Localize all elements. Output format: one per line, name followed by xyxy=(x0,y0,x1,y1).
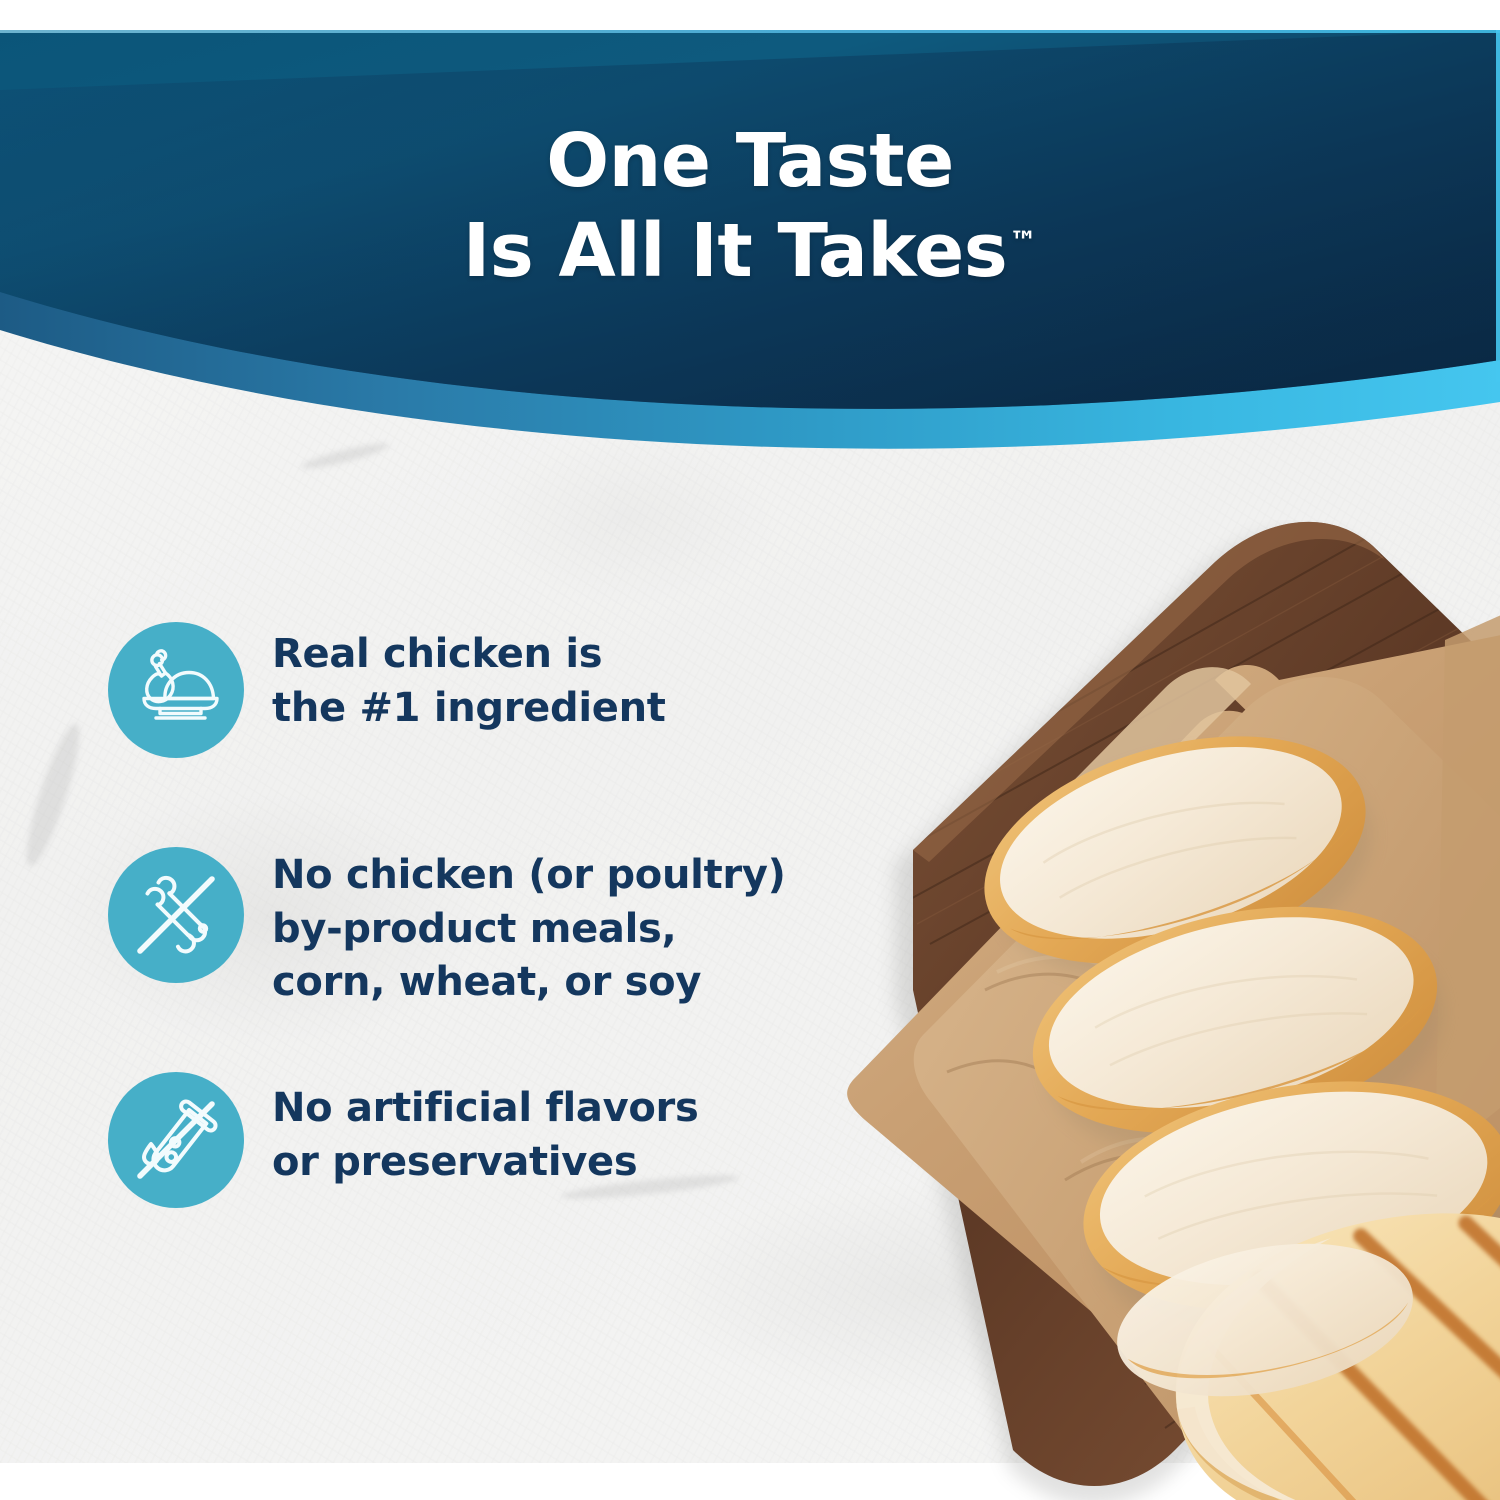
benefit-item-real-chicken: Real chicken is the #1 ingredient xyxy=(108,622,666,758)
benefit-item-no-artificial: No artificial flavors or preservatives xyxy=(108,1072,699,1208)
product-benefits-poster: One Taste Is All It Takes™ xyxy=(0,0,1500,1500)
title-line-2-wrap: Is All It Takes™ xyxy=(463,206,1038,296)
roast-chicken-platter-icon xyxy=(108,622,244,758)
header-banner: One Taste Is All It Takes™ xyxy=(0,30,1500,470)
title-line-2: Is All It Takes xyxy=(463,208,1008,294)
benefit-label: Real chicken is the #1 ingredient xyxy=(272,622,666,735)
title-line-1: One Taste xyxy=(0,116,1500,206)
page-title: One Taste Is All It Takes™ xyxy=(0,116,1500,297)
product-photo xyxy=(745,520,1500,1500)
benefit-item-no-byproducts: No chicken (or poultry) by-product meals… xyxy=(108,847,786,1010)
benefit-label: No chicken (or poultry) by-product meals… xyxy=(272,847,786,1010)
benefit-label: No artificial flavors or preservatives xyxy=(272,1072,699,1189)
chicken-photo-illustration xyxy=(745,520,1500,1500)
no-bone-icon xyxy=(108,847,244,983)
trademark-symbol: ™ xyxy=(1009,225,1037,258)
no-test-tube-icon xyxy=(108,1072,244,1208)
